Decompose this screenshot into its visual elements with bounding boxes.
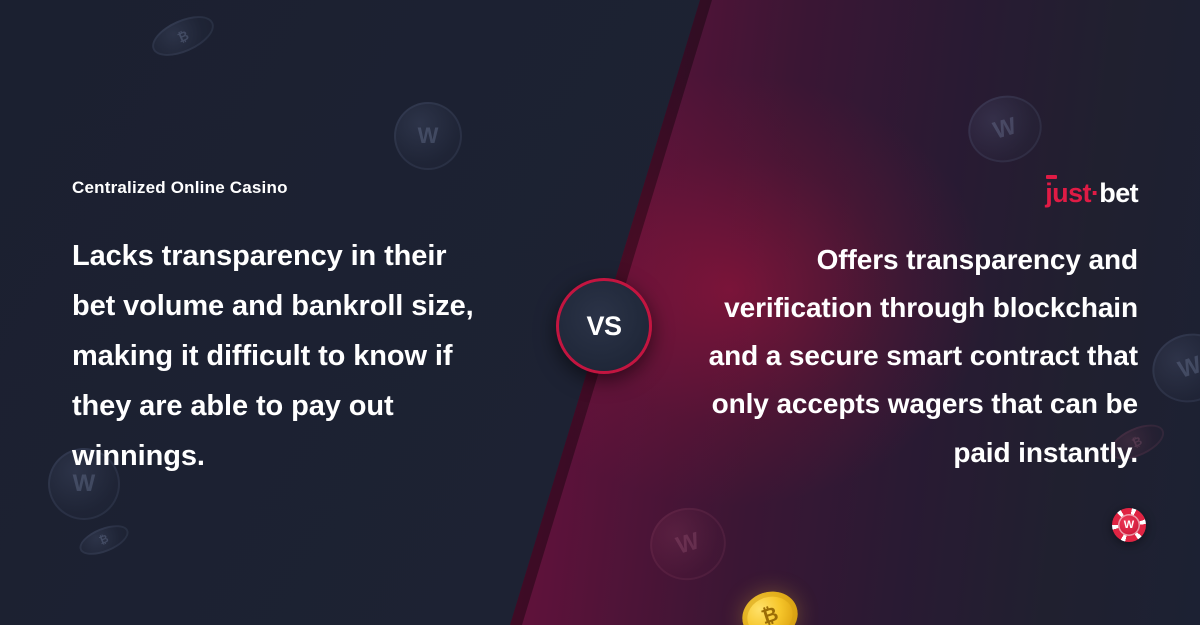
logo-j-bar-icon — [1046, 175, 1057, 179]
left-text-block: Centralized Online Casino Lacks transpar… — [72, 178, 482, 481]
logo-text-just: just — [1045, 178, 1091, 208]
vs-comparison-graphic: ₿ W W ₿ W W W ₿ ₿ W Centralized Online C… — [0, 0, 1200, 625]
logo-text-bet: bet — [1099, 178, 1138, 208]
left-heading: Centralized Online Casino — [72, 178, 482, 198]
vs-label: VS — [586, 311, 621, 342]
left-body-text: Lacks transparency in their bet volume a… — [72, 232, 482, 481]
logo-j-accent-wrap: just — [1045, 180, 1091, 207]
right-text-block: Offers transparency and verification thr… — [668, 236, 1138, 477]
right-body-text: Offers transparency and verification thr… — [668, 236, 1138, 477]
vs-badge: VS — [556, 278, 652, 374]
justbet-logo: just ·bet — [1045, 180, 1138, 207]
